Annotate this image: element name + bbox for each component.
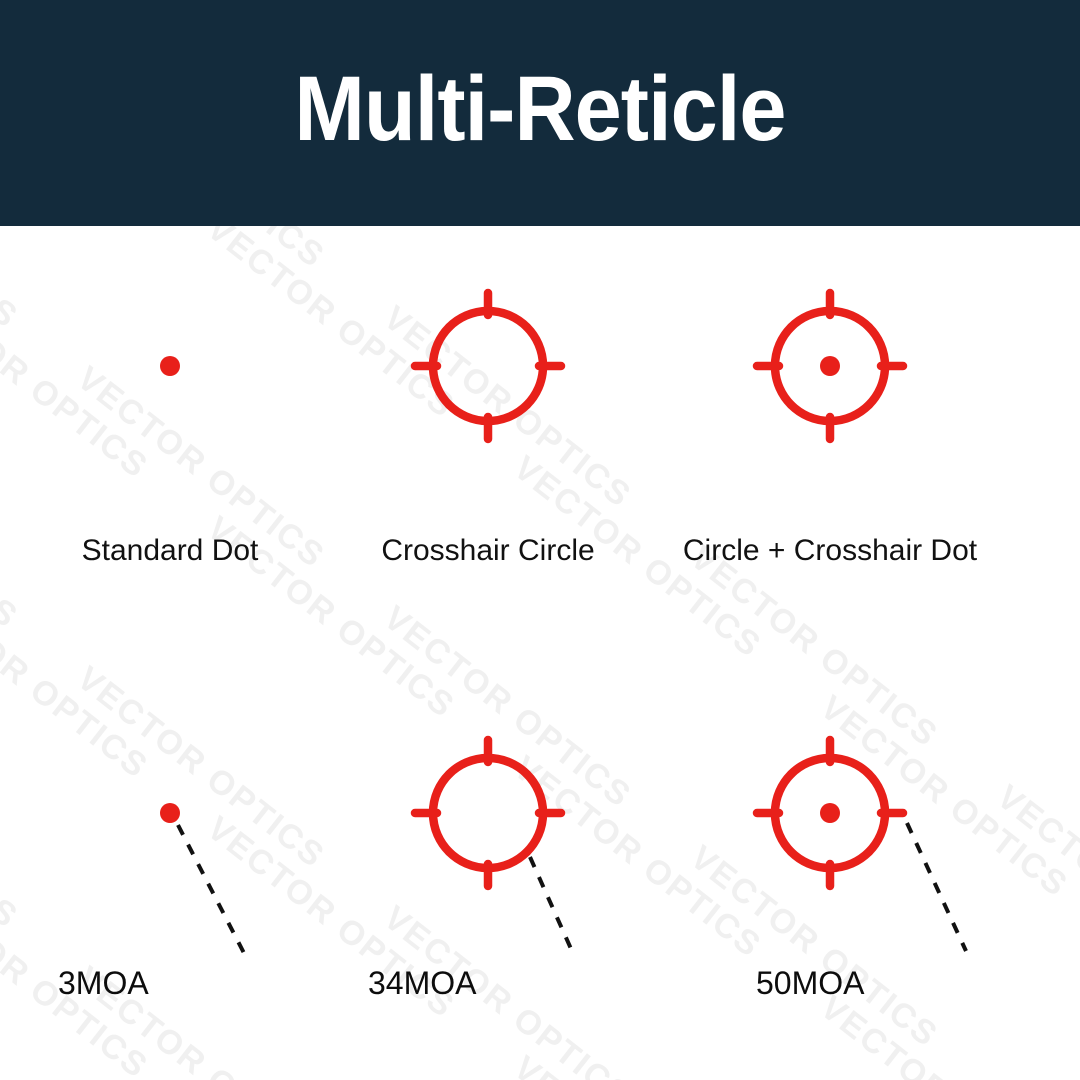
leader-line (907, 823, 966, 951)
moa-label-50: 50MOA (756, 965, 864, 1002)
reticle-card-standard-dot[interactable]: Standard Dot (0, 254, 340, 474)
reticle-label-crosshair-circle: Crosshair Circle (318, 534, 658, 568)
reticle-card-circle-crosshair-dot[interactable]: Circle + Crosshair Dot (660, 254, 1000, 474)
leader-line (178, 825, 246, 957)
header-banner: Multi-Reticle (0, 0, 1080, 226)
reticle-card-moa-50[interactable]: 50MOA (660, 701, 1000, 921)
crosshair-circle-icon (415, 740, 561, 886)
reticle-label-circle-crosshair-dot: Circle + Crosshair Dot (660, 534, 1000, 568)
reticle-label-standard-dot: Standard Dot (0, 534, 340, 568)
center-dot-icon (160, 356, 180, 376)
reticle-art-circle-crosshair-dot (660, 254, 1000, 474)
reticle-art-moa-3 (0, 701, 340, 921)
reticle-card-moa-34[interactable]: 34MOA (318, 701, 658, 921)
reticle-content-area: Standard Dot (0, 226, 1080, 1080)
reticle-card-moa-3[interactable]: 3MOA (0, 701, 340, 921)
reticle-art-moa-34 (318, 701, 658, 921)
leader-line (530, 857, 572, 951)
moa-label-3: 3MOA (58, 965, 149, 1002)
reticle-card-crosshair-circle[interactable]: Crosshair Circle (318, 254, 658, 474)
multi-reticle-graphic: VECTOR OPTICSVECTOR OPTICSVECTOR OPTICSV… (0, 0, 1080, 1080)
center-dot-icon (160, 803, 180, 823)
center-dot-icon (820, 356, 840, 376)
page-title: Multi-Reticle (294, 63, 785, 155)
crosshair-circle-icon (415, 293, 561, 439)
reticle-art-standard-dot (0, 254, 340, 474)
reticle-art-moa-50 (660, 701, 1000, 921)
reticle-art-crosshair-circle (318, 254, 658, 474)
moa-label-34: 34MOA (368, 965, 476, 1002)
center-dot-icon (820, 803, 840, 823)
